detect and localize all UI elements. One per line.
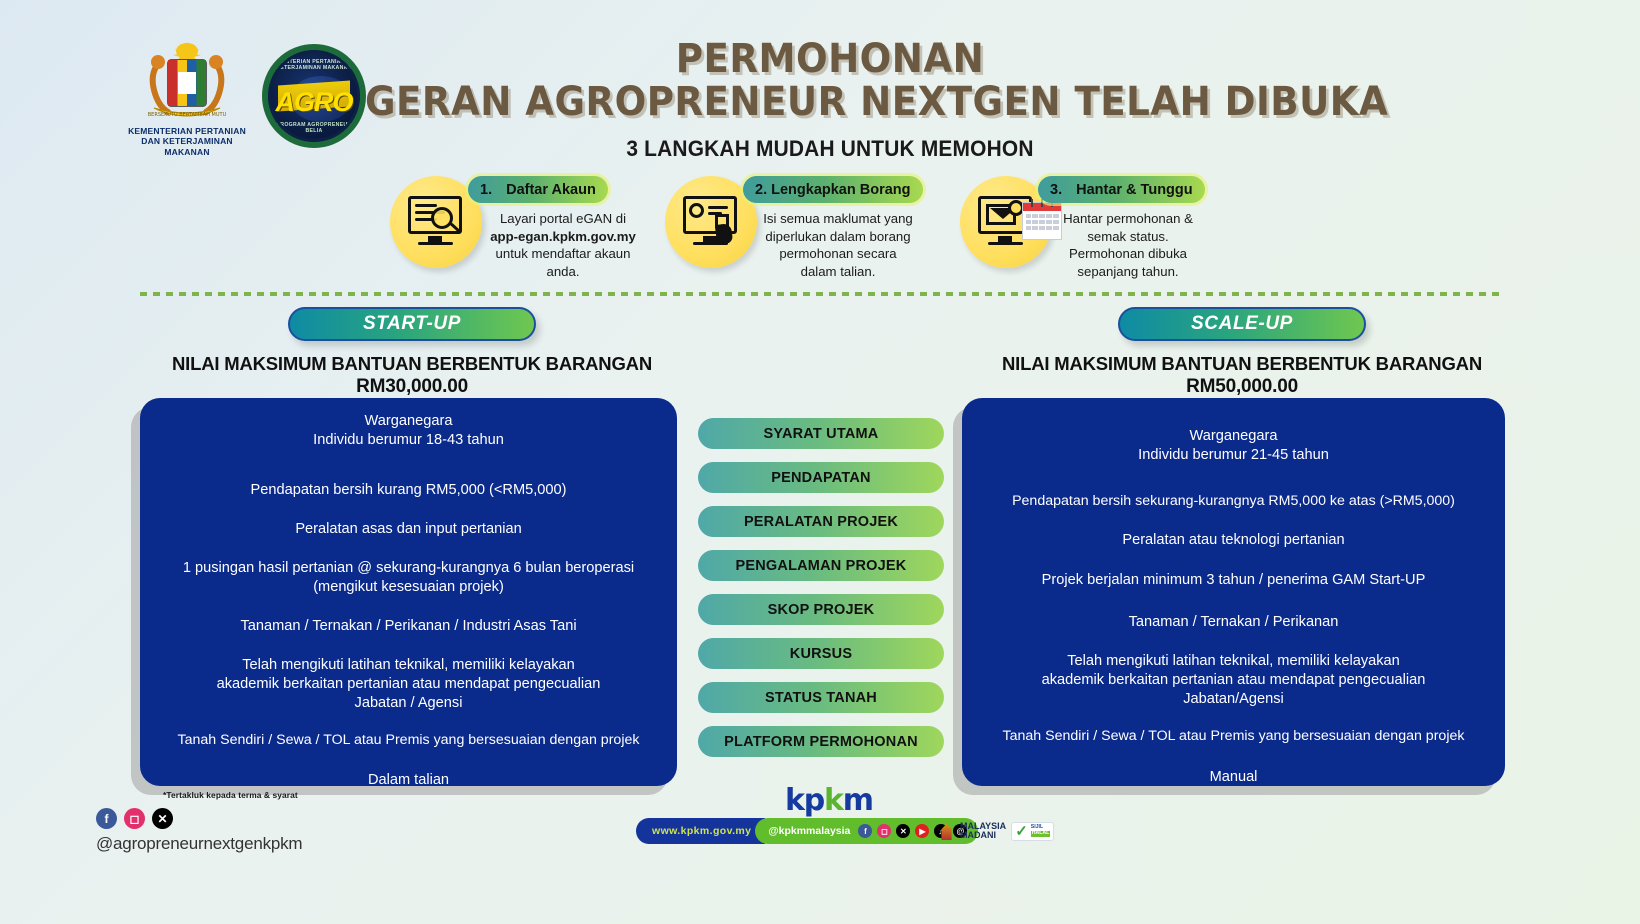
kpkm-wordmark-part2: k: [824, 783, 843, 818]
step-2-number: 2.: [755, 182, 767, 198]
scaleup-criterion-4: Projek berjalan minimum 3 tahun / peneri…: [968, 571, 1499, 590]
startup-criterion-8: Dalam talian: [146, 771, 671, 790]
page-title-line-2: GERAN AGROPRENEUR NEXTGEN TELAH DIBUKA: [365, 80, 1295, 124]
step-3-label: Hantar & Tunggu: [1076, 182, 1193, 198]
startup-value-block: NILAI MAKSIMUM BANTUAN BERBENTUK BARANGA…: [150, 352, 674, 399]
jata-negara-icon: BERSEKUTU BERTAMBAH MUTU: [128, 38, 246, 124]
startup-criterion-3: Peralatan asas dan input pertanian: [146, 520, 671, 539]
halal-certification-badge: ✓ SIJIL HALAL: [1011, 822, 1054, 841]
agropreneur-handle: @agropreneurnextgenkpkm: [96, 834, 456, 854]
step-3-number: 3.: [1050, 182, 1062, 198]
step-1-desc-line-4: anda.: [468, 263, 658, 281]
step-1-portal-url[interactable]: app-egan.kpkm.gov.my: [490, 229, 636, 244]
step-2-desc-line-1: Isi semua maklumat yang: [743, 210, 933, 228]
page-header: BERSEKUTU BERTAMBAH MUTU KEMENTERIAN PER…: [0, 0, 1640, 175]
step-3-desc-line-4: sepanjang tahun.: [1038, 263, 1218, 281]
step-2-description: Isi semua maklumat yang diperlukan dalam…: [743, 210, 933, 280]
step-3-description: Hantar permohonan & semak status. Permoh…: [1038, 210, 1218, 280]
startup-criterion-1: Warganegara Individu berumur 18-43 tahun: [146, 412, 671, 451]
x-icon[interactable]: ✕: [896, 824, 910, 838]
kpkm-wordmark-part1: kp: [785, 783, 824, 818]
startup-banner: START-UP: [288, 307, 536, 341]
kpkm-wordmark-part3: m: [843, 783, 873, 818]
step-1-desc-line-1: Layari portal eGAN di: [468, 210, 658, 228]
halal-line-2: HALAL: [1031, 831, 1051, 837]
category-pill-syarat-utama[interactable]: SYARAT UTAMA: [698, 418, 944, 449]
scaleup-value-block: NILAI MAKSIMUM BANTUAN BERBENTUK BARANGA…: [980, 352, 1504, 399]
facebook-icon[interactable]: f: [96, 808, 117, 829]
startup-criterion-2: Pendapatan bersih kurang RM5,000 (<RM5,0…: [146, 481, 671, 500]
social-block-left: f ◻ ✕ @agropreneurnextgenkpkm: [96, 808, 456, 854]
madani-line-2: MADANI: [960, 830, 996, 840]
step-3-desc-line-2: semak status.: [1038, 228, 1218, 246]
page-subtitle: 3 LANGKAH MUDAH UNTUK MEMOHON: [355, 136, 1305, 162]
scaleup-criterion-7: Tanah Sendiri / Sewa / TOL atau Premis y…: [968, 727, 1499, 746]
category-pill-kursus[interactable]: KURSUS: [698, 638, 944, 669]
halal-badge-text: SIJIL HALAL: [1031, 825, 1051, 837]
step-1-description: Layari portal eGAN di app-egan.kpkm.gov.…: [468, 210, 658, 280]
step-2-label: Lengkapkan Borang: [771, 182, 910, 198]
startup-value-amount: RM30,000.00: [150, 375, 674, 399]
title-block: PERMOHONAN GERAN AGROPRENEUR NEXTGEN TEL…: [330, 38, 1330, 162]
category-pill-status-tanah[interactable]: STATUS TANAH: [698, 682, 944, 713]
svg-text:BERSEKUTU BERTAMBAH MUTU: BERSEKUTU BERTAMBAH MUTU: [148, 112, 227, 118]
terms-disclaimer: *Tertakluk kepada terma & syarat: [163, 790, 298, 800]
dotted-divider: [140, 292, 1502, 296]
x-icon[interactable]: ✕: [152, 808, 173, 829]
instagram-icon[interactable]: ◻: [877, 824, 891, 838]
facebook-icon[interactable]: f: [858, 824, 872, 838]
madani-icon: [938, 822, 955, 840]
step-2-desc-line-3: permohonan secara: [743, 245, 933, 263]
step-1-pill[interactable]: 1. Daftar Akaun: [468, 176, 608, 203]
instagram-icon[interactable]: ◻: [124, 808, 145, 829]
scaleup-criteria-list: Warganegara Individu berumur 21-45 tahun…: [968, 427, 1499, 788]
monitor-search-icon: [408, 196, 464, 248]
scaleup-criterion-2: Pendapatan bersih sekurang-kurangnya RM5…: [968, 492, 1499, 511]
madani-label: MALAYSIA MADANI: [960, 822, 1006, 841]
step-1-label: Daftar Akaun: [506, 182, 596, 198]
category-pill-platform-permohonan[interactable]: PLATFORM PERMOHONAN: [698, 726, 944, 757]
scaleup-criterion-8: Manual: [968, 768, 1499, 787]
scaleup-banner: SCALE-UP: [1118, 307, 1366, 341]
category-pill-pengalaman-projek[interactable]: PENGALAMAN PROJEK: [698, 550, 944, 581]
category-pill-skop-projek[interactable]: SKOP PROJEK: [698, 594, 944, 625]
scaleup-criterion-5: Tanaman / Ternakan / Perikanan: [968, 613, 1499, 632]
startup-criterion-6: Telah mengikuti latihan teknikal, memili…: [146, 656, 671, 714]
website-pill[interactable]: www.kpkm.gov.my: [636, 818, 765, 844]
scaleup-criterion-3: Peralatan atau teknologi pertanian: [968, 531, 1499, 550]
form-click-icon: [683, 196, 739, 248]
step-3-desc-line-3: Permohonan dibuka: [1038, 245, 1218, 263]
step-item-1: 1. Daftar Akaun Layari portal eGAN di ap…: [390, 170, 670, 282]
scaleup-value-label: NILAI MAKSIMUM BANTUAN BERBENTUK BARANGA…: [1002, 353, 1482, 374]
ministry-name-caption: KEMENTERIAN PERTANIAN DAN KETERJAMINAN M…: [122, 126, 252, 157]
startup-criterion-7: Tanah Sendiri / Sewa / TOL atau Premis y…: [146, 731, 671, 750]
social-icon-row: f ◻ ✕: [96, 808, 456, 829]
step-1-desc-line-3: untuk mendaftar akaun: [468, 245, 658, 263]
kpkm-wordmark: kpkm: [785, 783, 873, 818]
page-title-line-1: PERMOHONAN: [365, 38, 1295, 80]
startup-value-label: NILAI MAKSIMUM BANTUAN BERBENTUK BARANGA…: [172, 353, 652, 374]
madani-badge-group: MALAYSIA MADANI ✓ SIJIL HALAL: [938, 818, 1054, 844]
step-2-desc-line-4: dalam talian.: [743, 263, 933, 281]
startup-criteria-list: Warganegara Individu berumur 18-43 tahun…: [146, 412, 671, 790]
youtube-icon[interactable]: ▶: [915, 824, 929, 838]
scaleup-criteria-panel: Warganegara Individu berumur 21-45 tahun…: [962, 398, 1505, 786]
check-icon: ✓: [1015, 824, 1028, 839]
step-2-pill[interactable]: 2. Lengkapkan Borang: [743, 176, 923, 203]
step-3-desc-line-1: Hantar permohonan &: [1038, 210, 1218, 228]
step-2-desc-line-2: diperlukan dalam borang: [743, 228, 933, 246]
category-column: SYARAT UTAMA PENDAPATAN PERALATAN PROJEK…: [698, 418, 948, 770]
startup-criteria-panel: Warganegara Individu berumur 18-43 tahun…: [140, 398, 677, 786]
step-item-2: 2. Lengkapkan Borang Isi semua maklumat …: [665, 170, 950, 282]
step-3-pill[interactable]: 3. Hantar & Tunggu: [1038, 176, 1205, 203]
startup-criterion-5: Tanaman / Ternakan / Perikanan / Industr…: [146, 617, 671, 636]
step-1-number: 1.: [480, 182, 492, 198]
kpkm-social-handle: @kpkmmalaysia: [768, 825, 850, 837]
startup-criterion-4: 1 pusingan hasil pertanian @ sekurang-ku…: [146, 559, 671, 598]
steps-section: 1. Daftar Akaun Layari portal eGAN di ap…: [390, 170, 1290, 285]
scaleup-criterion-6: Telah mengikuti latihan teknikal, memili…: [968, 652, 1499, 710]
footer-social-bar: www.kpkm.gov.my @kpkmmalaysia f ◻ ✕ ▶ ♫ …: [636, 818, 978, 844]
scaleup-criterion-1: Warganegara Individu berumur 21-45 tahun: [968, 427, 1499, 466]
scaleup-value-amount: RM50,000.00: [980, 375, 1504, 399]
step-item-3: 3. Hantar & Tunggu Hantar permohonan & s…: [960, 170, 1250, 282]
ministry-crest-logo: BERSEKUTU BERTAMBAH MUTU KEMENTERIAN PER…: [122, 38, 252, 158]
category-pill-peralatan-projek[interactable]: PERALATAN PROJEK: [698, 506, 944, 537]
category-pill-pendapatan[interactable]: PENDAPATAN: [698, 462, 944, 493]
